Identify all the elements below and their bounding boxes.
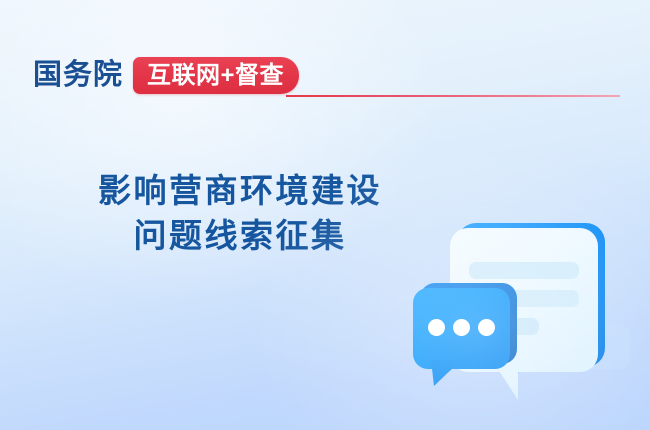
speech-bubbles-illustration	[395, 205, 620, 395]
bubble-text-bar-1	[469, 262, 579, 279]
typing-dot-3-icon	[478, 319, 495, 336]
typing-dot-2-icon	[453, 319, 470, 336]
page-title-line-1: 影响营商环境建设	[36, 168, 444, 213]
header-divider-rule	[286, 95, 620, 97]
page-title: 影响营商环境建设 问题线索征集	[36, 168, 444, 258]
header: 国务院 互联网+督查	[0, 0, 650, 110]
badge-label: 互联网+督查	[147, 63, 284, 89]
brand-title: 国务院	[33, 57, 123, 93]
small-bubble-tail	[431, 360, 461, 386]
badge-internet-plus-supervision[interactable]: 互联网+督查	[133, 57, 299, 94]
typing-dot-1-icon	[428, 319, 445, 336]
large-bubble-tail	[482, 370, 518, 400]
page-title-line-2: 问题线索征集	[36, 213, 444, 258]
poster-banner: 国务院 互联网+督查 影响营商环境建设 问题线索征集	[0, 0, 650, 430]
